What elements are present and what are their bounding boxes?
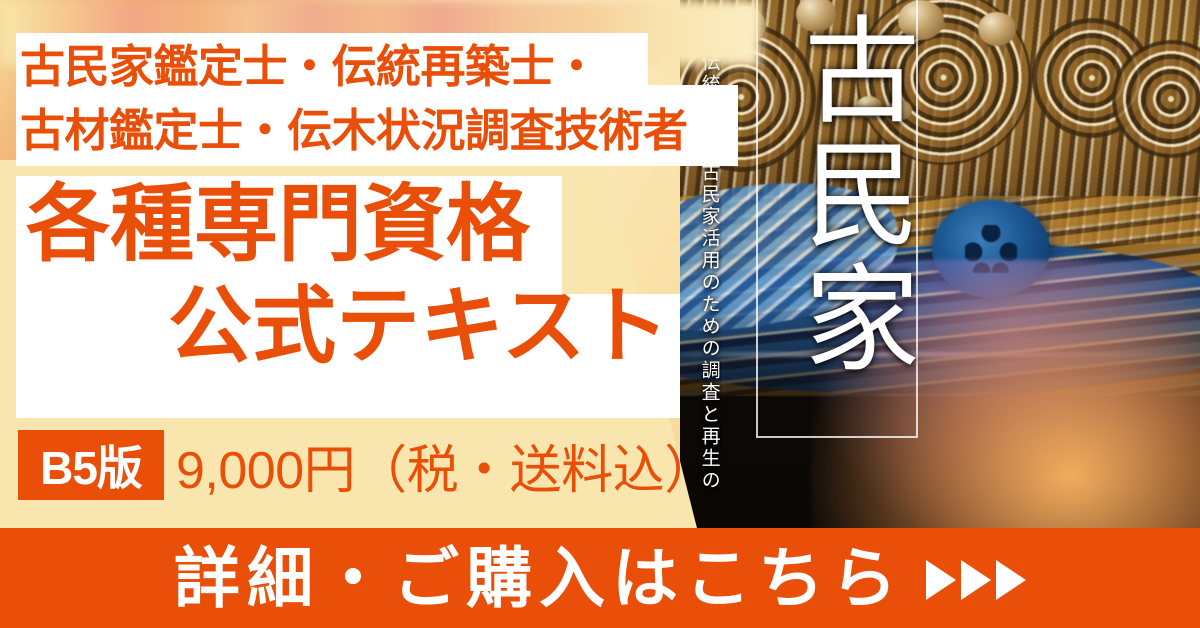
cta-bar[interactable]: 詳細・ご購入はこちら xyxy=(0,528,1200,628)
cta-label: 詳細・ご購入はこちら xyxy=(174,545,904,611)
headline-text: 古民家鑑定士・伝統再築士・ 古材鑑定士・伝木状況調査技術者 xyxy=(20,34,732,164)
main-title-line-2: 公式テキスト xyxy=(168,284,669,368)
headline-line-2: 古材鑑定士・伝木状況調査技術者 xyxy=(20,99,732,163)
triangle-right-icon xyxy=(996,560,1026,600)
triangle-right-icon xyxy=(961,560,991,600)
price-text: 9,000円（税・送料込） xyxy=(176,430,716,500)
headline-line-1: 古民家鑑定士・伝統再築士・ xyxy=(20,35,732,99)
cta-content: 詳細・ご購入はこちら xyxy=(174,545,1026,611)
promo-banner: 古民家 伝統構法 古民家活用のための調査と再生の 古民家鑑定士・伝統再築士・ 古… xyxy=(0,0,1200,628)
size-badge: B5版 xyxy=(18,430,164,500)
triangle-right-icon xyxy=(926,560,956,600)
cta-arrows xyxy=(926,560,1026,600)
wood-bead-decor xyxy=(978,12,1016,46)
main-title-line-1: 各種専門資格 xyxy=(26,182,530,266)
book-cover-image: 古民家 伝統構法 古民家活用のための調査と再生の xyxy=(660,0,1200,540)
cover-title-text: 古民家 xyxy=(756,10,918,382)
